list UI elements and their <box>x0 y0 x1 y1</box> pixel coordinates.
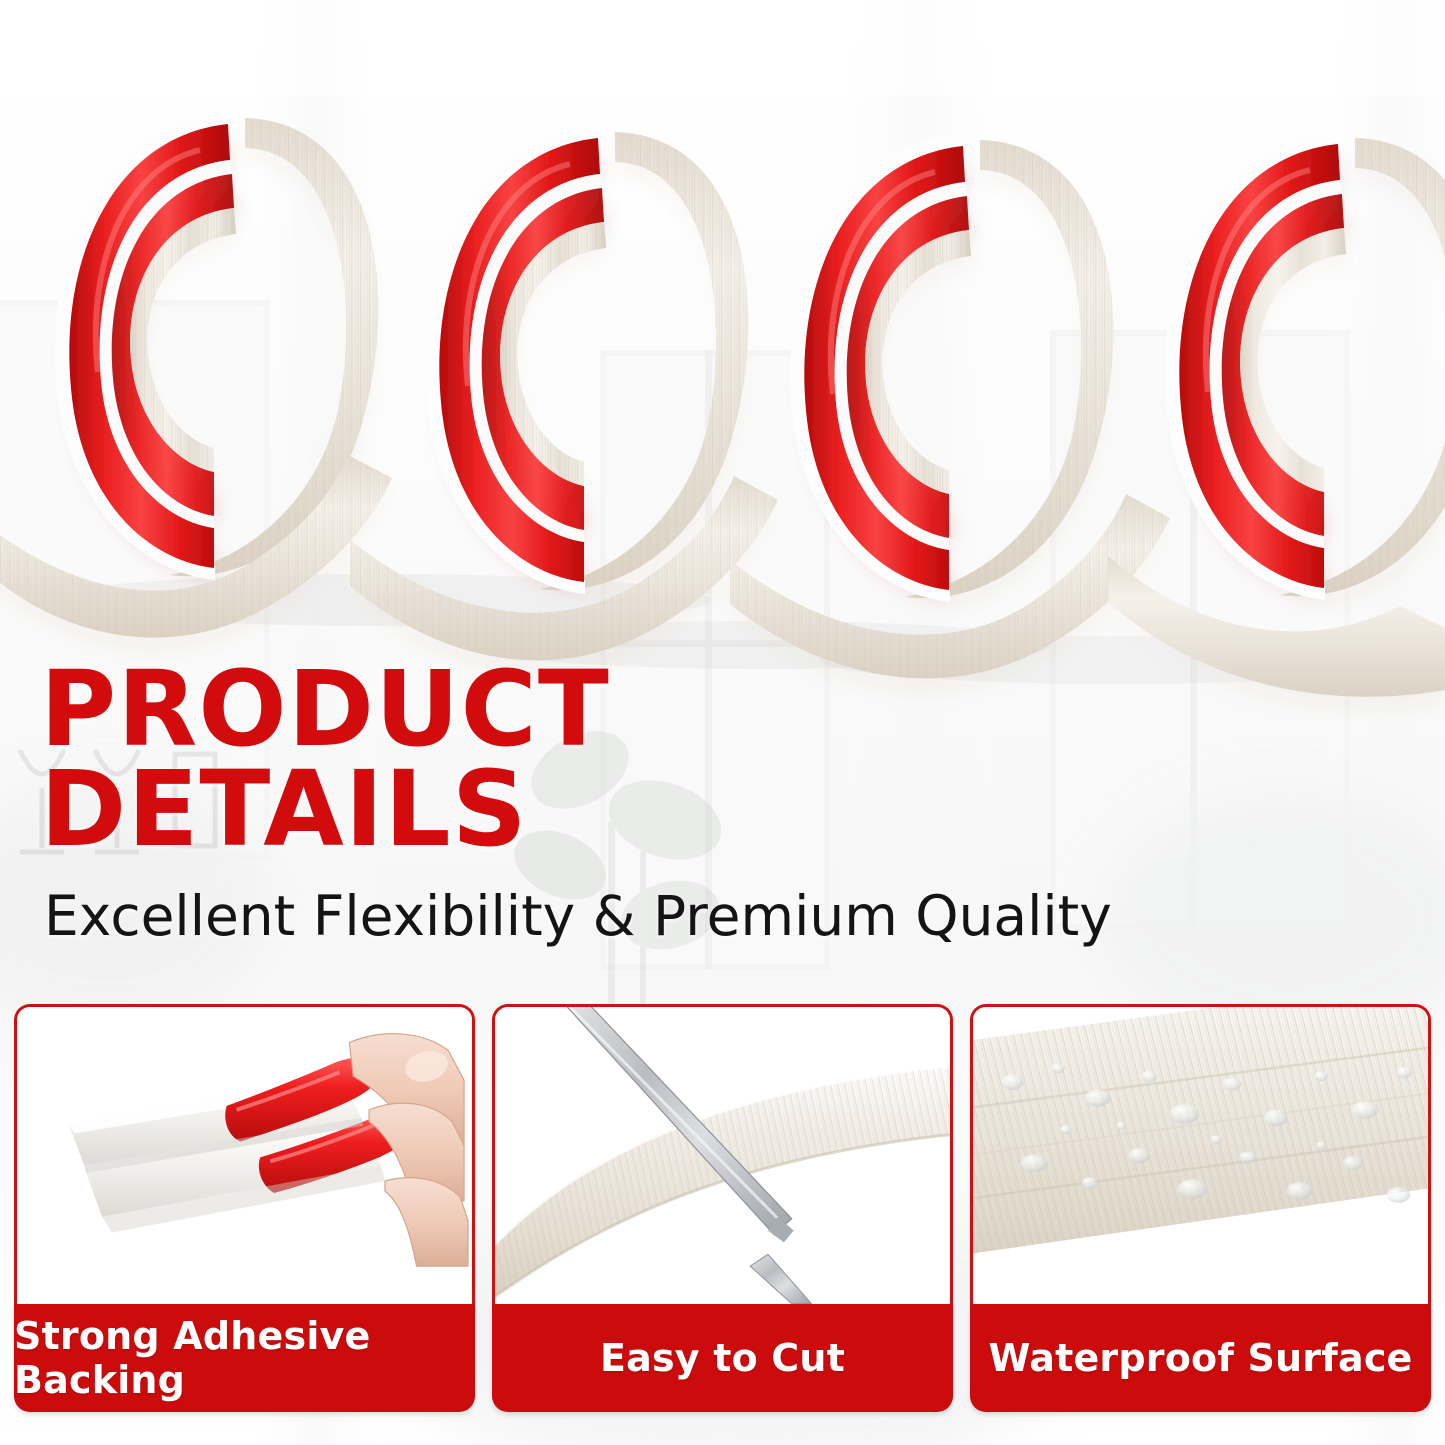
waterproof-illustration <box>973 1007 1428 1304</box>
feature-image-adhesive <box>14 1004 475 1304</box>
feature-panel-waterproof: Waterproof Surface <box>970 1004 1431 1412</box>
feature-panel-adhesive: Strong Adhesive Backing <box>14 1004 475 1412</box>
feature-image-waterproof <box>970 1004 1431 1304</box>
feature-panel-row: Strong Adhesive Backing <box>0 1004 1445 1412</box>
coil-2 <box>425 126 748 594</box>
coil-4 <box>1165 132 1445 600</box>
feature-label-adhesive: Strong Adhesive Backing <box>14 1304 475 1412</box>
feature-panel-cut: Easy to Cut <box>492 1004 953 1412</box>
cut-illustration <box>495 1007 950 1304</box>
hero-coiled-strips <box>0 0 1445 720</box>
page-title: PRODUCT DETAILS <box>40 660 1160 860</box>
adhesive-illustration <box>17 1007 472 1304</box>
feature-label-cut: Easy to Cut <box>492 1304 953 1412</box>
product-detail-graphic: PRODUCT DETAILS Excellent Flexibility & … <box>0 0 1445 1445</box>
feature-image-cut <box>492 1004 953 1304</box>
headline-block: PRODUCT DETAILS Excellent Flexibility & … <box>40 660 1160 946</box>
coil-3 <box>790 134 1113 602</box>
feature-label-waterproof: Waterproof Surface <box>970 1304 1431 1412</box>
coil-illustration <box>0 0 1445 720</box>
page-subtitle: Excellent Flexibility & Premium Quality <box>44 886 1160 947</box>
